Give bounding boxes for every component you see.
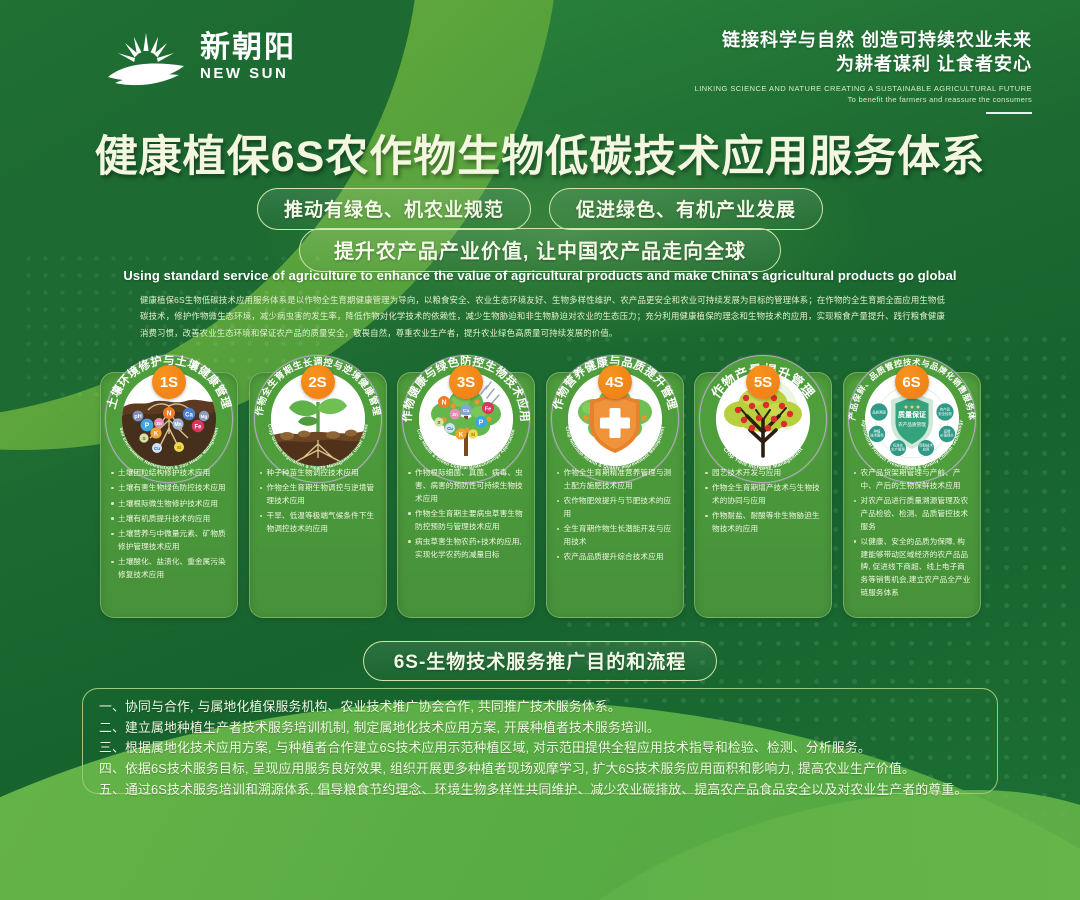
card-badge: 作物全生育期生长调控与逆境健康管理 Crop Growth Regulation…: [254, 355, 382, 483]
tagline-rule: [986, 112, 1032, 115]
card-badge: 作物健康与绿色防控生物技术应用 Crop Health & Green Cont…: [402, 355, 530, 483]
svg-text:K: K: [459, 432, 464, 438]
sunrise-field-logo-icon: [105, 25, 187, 87]
card-badge: 作物产量提升管理 Crop Yield Increase Management: [699, 355, 827, 483]
card-4s[interactable]: 作物营养健康与品质提升管理 Crop Nutrition Health & Qu…: [546, 372, 684, 618]
list-item: 土壤营养与中微量元素、矿物质修护管理技术应用: [111, 528, 228, 554]
list-item: 以健康、安全的品质为保障, 构建能够带动区域经济的农产品品牌, 促进线下商超、线…: [854, 536, 971, 600]
card-3s[interactable]: 作物健康与绿色防控生物技术应用 Crop Health & Green Cont…: [397, 372, 535, 618]
list-item: 作物全生育期主要病虫草害生物防控预防与管理技术应用: [408, 508, 525, 534]
list-item: 作物耐盐、耐酸等非生物胁迫生物技术的应用: [705, 510, 822, 536]
process-list: 一、协同与合作, 与属地化植保服务机构、农业技术推广协会合作, 共同推广技术服务…: [99, 697, 985, 801]
card-step-number: 2S: [301, 365, 335, 399]
list-item: 农产品品质提升综合技术应用: [557, 551, 674, 564]
card-step-number: 4S: [598, 365, 632, 399]
svg-text:农产品质管理: 农产品质管理: [898, 421, 926, 428]
list-item: 五、通过6S技术服务培训和溯源体系, 倡导粮食节约理念、环境生物多样性共同维护、…: [99, 780, 985, 801]
brand-name-en: NEW SUN: [200, 66, 296, 81]
card-bullet-list: 园艺技术开发与应用 作物全生育期增产技术与生物技术的协同与应用 作物耐盐、耐酸等…: [695, 465, 831, 536]
svg-text:Ca: Ca: [185, 412, 193, 418]
list-item: 种子种苗生物调控技术应用: [260, 467, 377, 480]
cards-row: 土壤环境修护与土壤健康管理 Soil Environment Remediati…: [100, 372, 986, 618]
card-badge: 作物营养健康与品质提升管理 Crop Nutrition Health & Qu…: [551, 355, 679, 483]
list-item: 一、协同与合作, 与属地化植保服务机构、农业技术推广协会合作, 共同推广技术服务…: [99, 697, 985, 718]
list-item: 作物全生育期生物调控与逆境管理技术应用: [260, 482, 377, 508]
svg-text:Si: Si: [177, 445, 181, 450]
list-item: 土壤根际微生物修护技术应用: [111, 498, 228, 511]
english-subtitle: Using standard service of agriculture to…: [0, 268, 1080, 283]
brand-logo: 新朝阳 NEW SUN: [105, 25, 296, 87]
list-item: 园艺技术开发与应用: [705, 467, 822, 480]
card-step-number: 3S: [449, 365, 483, 399]
svg-text:S: S: [142, 436, 145, 441]
list-item: 农产品货架期管理与产前、产中、产后的生物保鲜技术应用: [854, 467, 971, 493]
brand-logo-text: 新朝阳 NEW SUN: [200, 31, 296, 81]
svg-text:N: N: [166, 410, 171, 417]
tagline-en-line-2: To benefit the farmers and reassure the …: [695, 95, 1032, 104]
card-2s[interactable]: 作物全生育期生长调控与逆境健康管理 Crop Growth Regulation…: [249, 372, 387, 618]
svg-text:Fe: Fe: [485, 406, 492, 412]
svg-text:Cu: Cu: [447, 426, 453, 431]
subtitle-pill: 推动有绿色、机农业规范: [257, 188, 531, 230]
page-title: 健康植保6S农作物生物低碳技术应用服务体系: [0, 122, 1080, 184]
svg-text:K: K: [154, 431, 159, 437]
subtitle-pill: 提升农产品产业价值, 让中国农产品走向全球: [299, 228, 781, 272]
card-5s[interactable]: 作物产量提升管理 Crop Yield Increase Management: [694, 372, 832, 618]
process-list-box: 一、协同与合作, 与属地化植保服务机构、农业技术推广协会合作, 共同推广技术服务…: [82, 688, 998, 794]
card-bullet-list: 种子种苗生物调控技术应用 作物全生育期生物调控与逆境管理技术应用 干旱、低温等极…: [250, 465, 386, 536]
svg-text:应用: 应用: [922, 447, 929, 452]
card-step-number: 5S: [746, 365, 780, 399]
list-item: 土壤有机质提升技术的应用: [111, 513, 228, 526]
svg-text:Ca: Ca: [463, 408, 469, 414]
svg-text:品质溯源: 品质溯源: [872, 410, 886, 415]
svg-text:P: P: [145, 422, 150, 429]
card-1s[interactable]: 土壤环境修护与土壤健康管理 Soil Environment Remediati…: [100, 372, 238, 618]
svg-text:pH: pH: [134, 414, 141, 420]
list-item: 作物根际细菌、真菌、病毒、虫害、病害的预防性可持续生物技术应用: [408, 467, 525, 505]
tagline-en-line-1: LINKING SCIENCE AND NATURE CREATING A SU…: [695, 84, 1032, 93]
svg-text:N: N: [441, 399, 446, 406]
card-step-number: 1S: [152, 365, 186, 399]
list-item: 作物全生育期增产技术与生物技术的协同与应用: [705, 482, 822, 508]
svg-text:Zn: Zn: [156, 421, 162, 426]
list-item: 农作物肥效提升与节肥技术的应用: [557, 495, 674, 521]
list-item: 对农产品进行质量溯源管理及农产品检验、检测、品质管控技术服务: [854, 495, 971, 533]
poster-header: 新朝阳 NEW SUN 链接科学与自然 创造可持续农业未来 为耕者谋利 让食者安…: [0, 0, 1080, 110]
card-step-number: 6S: [895, 365, 929, 399]
list-item: 土壤酸化、盐渍化、重金属污染修复技术应用: [111, 556, 228, 582]
svg-text:生产管理: 生产管理: [891, 447, 905, 452]
svg-text:Mg: Mg: [201, 414, 208, 419]
tagline-line-2: 为耕者谋利 让食者安心: [695, 52, 1032, 76]
section-heading-label: 6S-生物技术服务推广目的和流程: [363, 641, 718, 681]
svg-text:Mn: Mn: [174, 422, 181, 428]
svg-text:Si: Si: [471, 432, 475, 437]
poster-canvas: 新朝阳 NEW SUN 链接科学与自然 创造可持续农业未来 为耕者谋利 让食者安…: [0, 0, 1080, 900]
svg-text:Cu: Cu: [154, 446, 160, 451]
svg-text:技术服务: 技术服务: [870, 433, 884, 438]
card-bullet-list: 作物全生育期精准营养管理与测土配方施肥技术应用 农作物肥效提升与节肥技术的应用 …: [547, 465, 683, 564]
list-item: 二、建立属地种植生产者技术服务培训机制, 制定属地化技术应用方案, 开展种植者技…: [99, 718, 985, 739]
list-item: 土壤团粒结构修护技术应用: [111, 467, 228, 480]
svg-text:Zn: Zn: [452, 412, 458, 417]
list-item: 作物全生育期精准营养管理与测土配方施肥技术应用: [557, 467, 674, 493]
body-paragraph: 健康植保6S生物低碳技术应用服务体系是以作物全生育期健康管理为导向，以粮食安全、…: [140, 292, 945, 341]
list-item: 土壤有害生物绿色防控技术应用: [111, 482, 228, 495]
card-badge: 土壤环境修护与土壤健康管理 Soil Environment Remediati…: [105, 355, 233, 483]
list-item: 全生育期作物生长潜能开发与应用技术: [557, 523, 674, 549]
card-badge: 农产品保鲜、品质管控技术与品牌化销售服务体系 Agricultural Prod…: [848, 355, 976, 483]
card-6s[interactable]: 农产品保鲜、品质管控技术与品牌化销售服务体系 Agricultural Prod…: [843, 372, 981, 618]
brand-name-cn: 新朝阳: [200, 33, 296, 63]
section-heading: 6S-生物技术服务推广目的和流程: [0, 641, 1080, 681]
list-item: 四、依据6S技术服务目标, 呈现应用服务良好效果, 组织开展更多种植者现场观摩学…: [99, 759, 985, 780]
list-item: 干旱、低温等极端气候条件下生物调控技术的应用: [260, 510, 377, 536]
subtitle-pill: 促进绿色、有机产业发展: [549, 188, 823, 230]
svg-text:安全检测: 安全检测: [938, 411, 952, 416]
subtitle-pill-row-1: 推动有绿色、机农业规范 促进绿色、有机产业发展: [0, 188, 1080, 230]
svg-text:质量保证: 质量保证: [898, 410, 926, 419]
card-bullet-list: 作物根际细菌、真菌、病毒、虫害、病害的预防性可持续生物技术应用 作物全生育期主要…: [398, 465, 534, 561]
tagline-line-1: 链接科学与自然 创造可持续农业未来: [695, 28, 1032, 52]
list-item: 三、根据属地化技术应用方案, 与种植者合作建立6S技术应用示范种植区域, 对示范…: [99, 738, 985, 759]
subtitle-pill-row-2: 提升农产品产业价值, 让中国农产品走向全球: [0, 228, 1080, 272]
svg-text:S: S: [438, 420, 441, 425]
header-tagline: 链接科学与自然 创造可持续农业未来 为耕者谋利 让食者安心 LINKING SC…: [695, 28, 1032, 114]
card-bullet-list: 农产品货架期管理与产前、产中、产后的生物保鲜技术应用 对农产品进行质量溯源管理及…: [844, 465, 980, 600]
svg-text:价值提升: 价值提升: [940, 433, 954, 438]
svg-text:P: P: [479, 420, 484, 427]
list-item: 病虫草害生物农药+技术的应用, 实现化学农药的减量目标: [408, 536, 525, 562]
card-bullet-list: 土壤团粒结构修护技术应用 土壤有害生物绿色防控技术应用 土壤根际微生物修护技术应…: [101, 465, 237, 582]
svg-text:Fe: Fe: [194, 424, 202, 430]
